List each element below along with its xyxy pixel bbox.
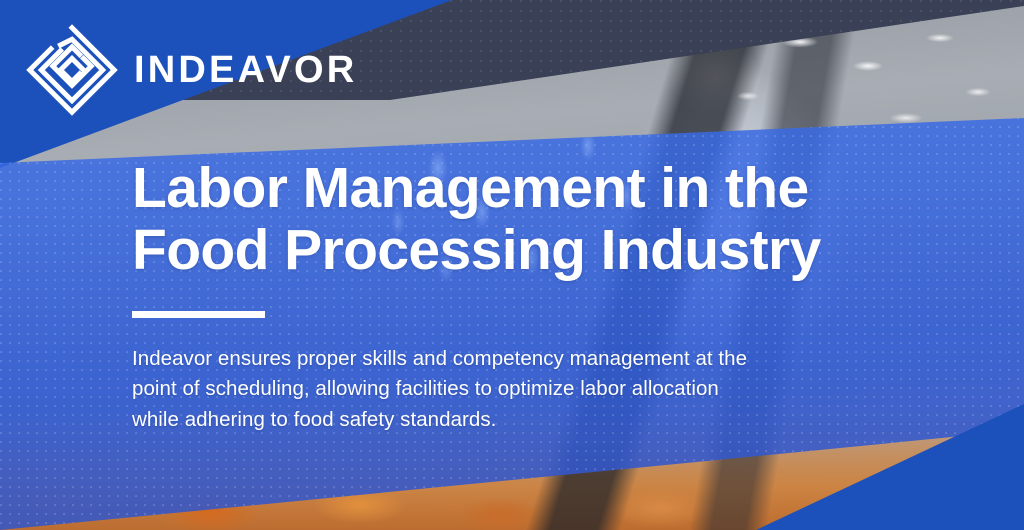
subcopy-line-1: Indeavor ensures proper skills and compe… bbox=[132, 344, 862, 374]
hero-subcopy: Indeavor ensures proper skills and compe… bbox=[132, 344, 862, 435]
brand-logo-lockup[interactable]: INDEAVOR bbox=[24, 22, 357, 118]
subcopy-line-3: while adhering to food safety standards. bbox=[132, 405, 862, 435]
headline-line-1: Labor Management in the bbox=[132, 158, 922, 220]
subcopy-line-2: point of scheduling, allowing facilities… bbox=[132, 374, 862, 404]
headline-line-2: Food Processing Industry bbox=[132, 220, 922, 282]
hero-headline: Labor Management in the Food Processing … bbox=[132, 158, 922, 281]
brand-wordmark: INDEAVOR bbox=[134, 51, 357, 89]
nested-diamond-logo-icon bbox=[24, 22, 120, 118]
hero-content: Labor Management in the Food Processing … bbox=[132, 158, 922, 435]
headline-divider-rule bbox=[132, 311, 265, 318]
hero-banner: INDEAVOR Labor Management in the Food Pr… bbox=[0, 0, 1024, 530]
